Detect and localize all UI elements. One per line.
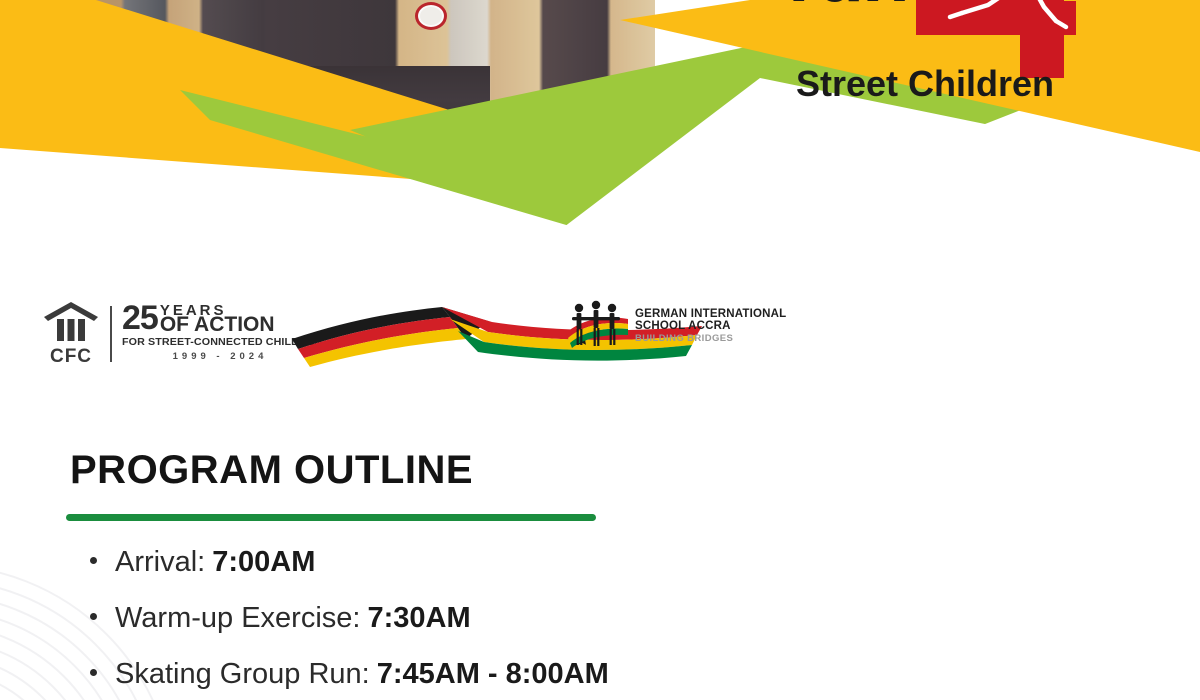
program-list-item: Warm-up Exercise: 7:30AM [90, 604, 609, 633]
gisa-text-block: GERMAN INTERNATIONAL SCHOOL ACCRA BUILDI… [635, 308, 786, 343]
program-item-label: Arrival: [115, 548, 205, 577]
bullet-icon [90, 613, 97, 620]
logo-gisa: GERMAN INTERNATIONAL SCHOOL ACCRA BUILDI… [566, 299, 786, 353]
program-item-time: 7:30AM [367, 604, 470, 633]
cfc-years-action: YEARS OF ACTION [160, 305, 275, 334]
cfc-acronym: CFC [38, 346, 104, 368]
program-item-time: 7:45AM - 8:00AM [377, 660, 609, 689]
photo-uniform-badge-icon [415, 2, 447, 30]
program-item-time: 7:00AM [212, 548, 315, 577]
program-item-label: Warm-up Exercise: [115, 604, 360, 633]
program-list: Arrival: 7:00AM Warm-up Exercise: 7:30AM… [90, 548, 609, 700]
sponsor-logo-strip: CFC 25 YEARS OF ACTION FOR STREET-CONNEC… [0, 285, 1200, 400]
program-list-item: Arrival: 7:00AM [90, 548, 609, 577]
poster-canvas: CFC 25 YEARS OF ACTION FOR STREET-CONNEC… [0, 0, 1200, 700]
cfc-number-25: 25 [122, 305, 158, 333]
cfc-mark: CFC [38, 299, 104, 368]
bullet-icon [90, 557, 97, 564]
bullet-icon [90, 669, 97, 676]
gisa-line-1: GERMAN INTERNATIONAL [635, 308, 786, 320]
three-figures-icon [566, 299, 628, 353]
program-list-item: Skating Group Run: 7:45AM - 8:00AM [90, 660, 609, 689]
logo-fun-run-4-street-children: fun & run [788, 0, 1073, 110]
cfc-text-block: 25 YEARS OF ACTION FOR STREET-CONNECTED … [122, 305, 318, 363]
gisa-line-2: SCHOOL ACCRA [635, 320, 786, 332]
funrun-wordmark: fun & run [788, 0, 977, 10]
program-title: PROGRAM OUTLINE [70, 448, 473, 493]
gisa-line-3: BUILDING BRIDGES [635, 334, 786, 344]
cfc-year-range: 1999 - 2024 [122, 351, 318, 362]
program-item-label: Skating Group Run: [115, 660, 370, 689]
cfc-headline: 25 YEARS OF ACTION [122, 305, 318, 334]
house-with-pillars-icon [41, 299, 101, 343]
program-divider [66, 514, 596, 521]
cfc-divider-rule [110, 306, 112, 362]
funrun-word-run: run [788, 0, 977, 10]
funrun-subtitle: Street Children [796, 63, 1054, 105]
logo-cfc: CFC 25 YEARS OF ACTION FOR STREET-CONNEC… [38, 299, 318, 368]
cfc-of-action-label: OF ACTION [160, 316, 275, 333]
